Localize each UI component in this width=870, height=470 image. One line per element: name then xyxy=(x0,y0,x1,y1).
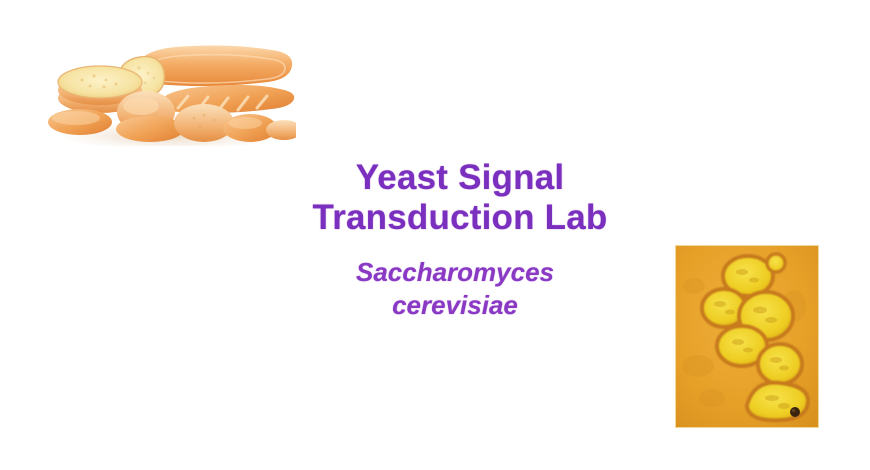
slide-subtitle: Saccharomyces cerevisiae xyxy=(250,256,660,322)
title-line-2: Transduction Lab xyxy=(250,198,670,238)
dark-spot xyxy=(790,407,800,417)
yeast-cells-micrograph xyxy=(676,246,818,427)
subtitle-line-2: cerevisiae xyxy=(250,289,660,322)
title-line-1: Yeast Signal xyxy=(250,158,670,198)
subtitle-line-1: Saccharomyces xyxy=(250,256,660,289)
slide-title: Yeast Signal Transduction Lab xyxy=(250,158,670,238)
bread-bakery-clipart xyxy=(38,28,296,146)
slide-canvas: Yeast Signal Transduction Lab Saccharomy… xyxy=(0,0,870,470)
